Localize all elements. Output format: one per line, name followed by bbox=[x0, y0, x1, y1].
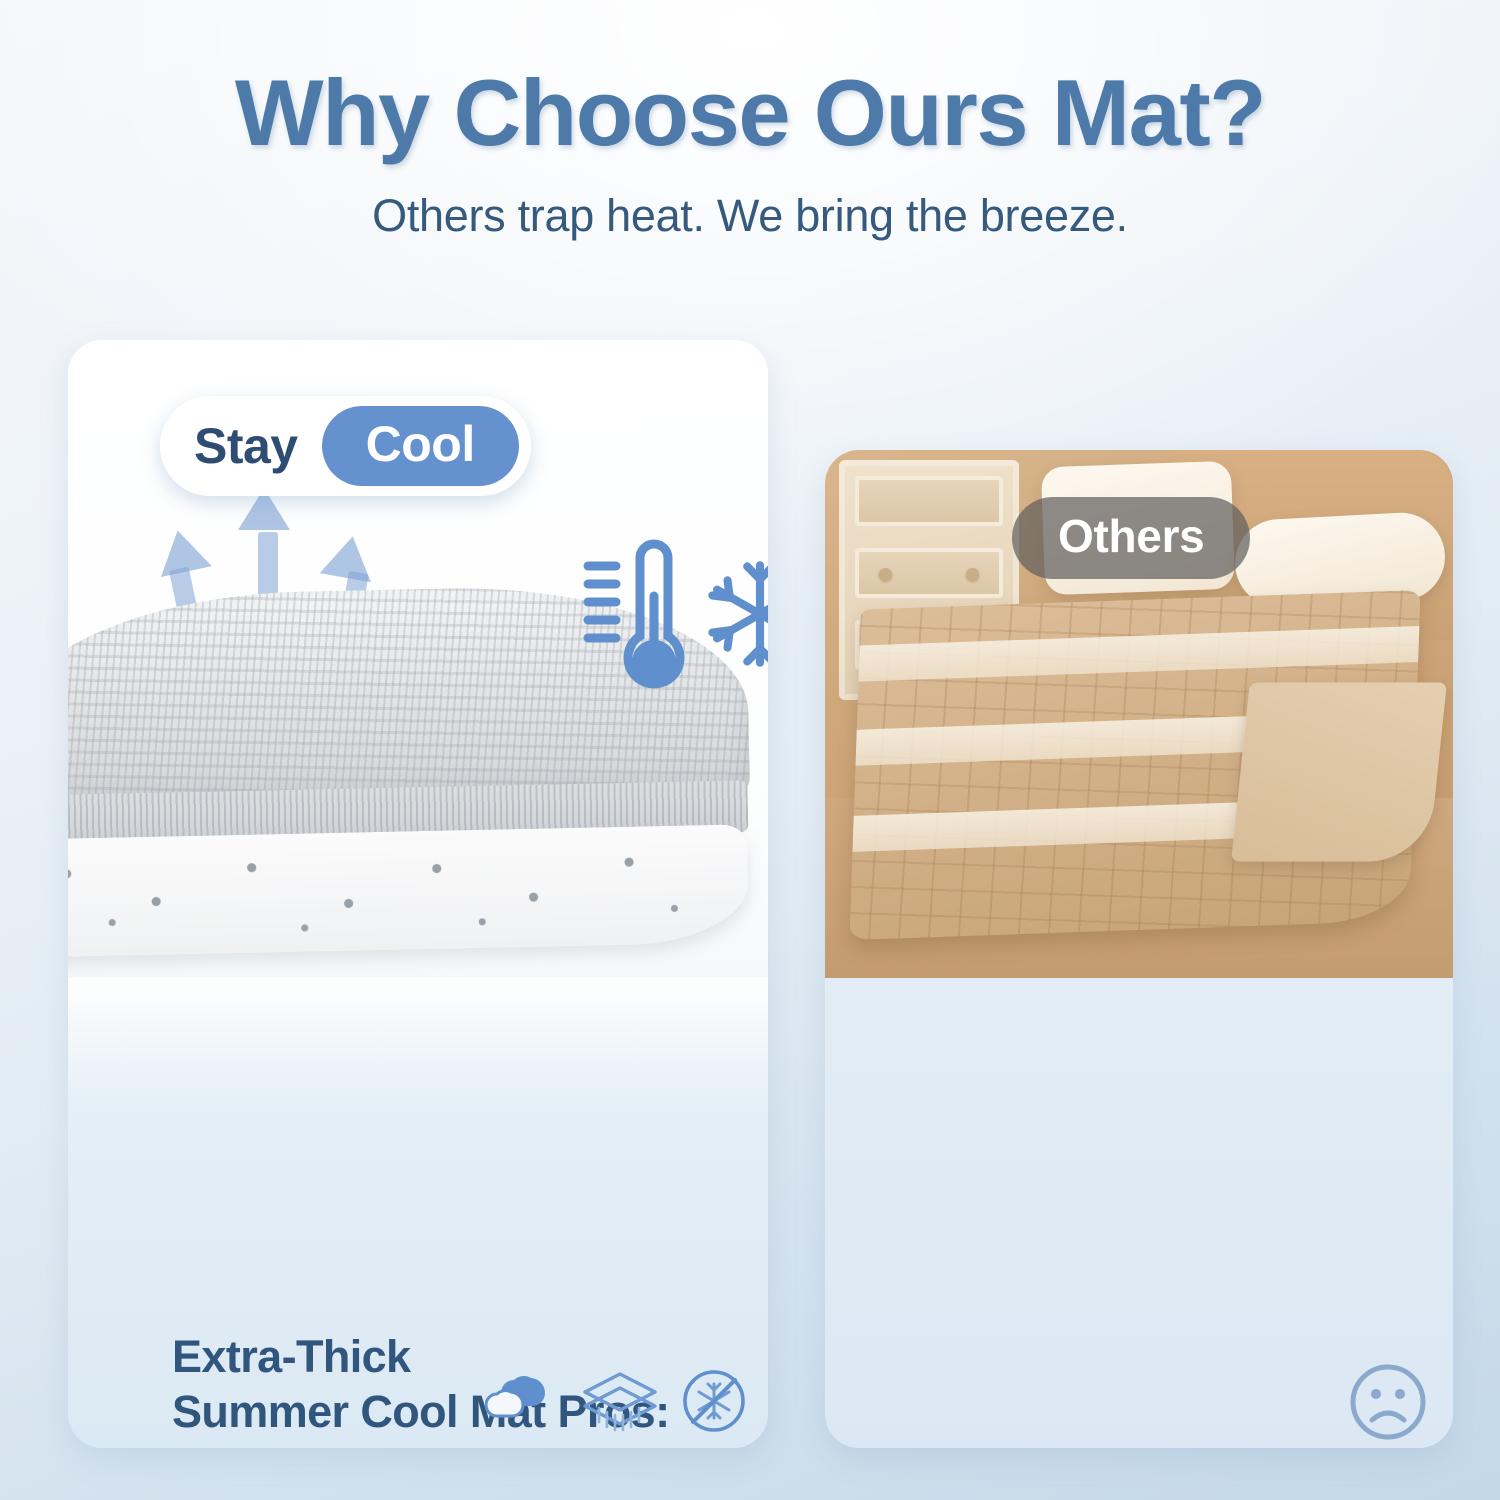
page-title: Why Choose Ours Mat? bbox=[0, 62, 1500, 164]
ours-heading-line1: Extra-Thick bbox=[172, 1331, 410, 1382]
mat-flipped-corner bbox=[1231, 682, 1447, 861]
ours-comparison-card: Extra-Thick Summer Cool Mat Pros: · Bett… bbox=[68, 340, 768, 1448]
sad-face-icon bbox=[1346, 1360, 1430, 1444]
drawer bbox=[855, 476, 1003, 526]
others-badge: Others bbox=[1012, 497, 1250, 579]
page-subtitle: Others trap heat. We bring the breeze. bbox=[0, 190, 1500, 242]
snowflake-icon bbox=[702, 556, 768, 672]
others-comparison-card: Think Mat Cons: × Poor Protection × Too … bbox=[825, 450, 1453, 1448]
breathable-layers-icon bbox=[581, 1370, 659, 1432]
header: Why Choose Ours Mat? Others trap heat. W… bbox=[0, 62, 1500, 242]
stay-cool-badge: Stay Cool bbox=[160, 396, 531, 496]
others-feature-icon bbox=[1346, 1360, 1430, 1449]
pillow-foam-base bbox=[68, 824, 749, 957]
knob bbox=[966, 568, 979, 581]
ours-feature-icons bbox=[485, 1368, 747, 1434]
cool-label: Cool bbox=[322, 406, 519, 486]
stay-label: Stay bbox=[194, 417, 298, 475]
infographic-page: Why Choose Ours Mat? Others trap heat. W… bbox=[0, 0, 1500, 1500]
knob bbox=[879, 568, 892, 581]
soft-cloud-icon bbox=[485, 1370, 559, 1432]
drawer bbox=[855, 548, 1003, 598]
anti-bacterial-icon bbox=[681, 1368, 747, 1434]
